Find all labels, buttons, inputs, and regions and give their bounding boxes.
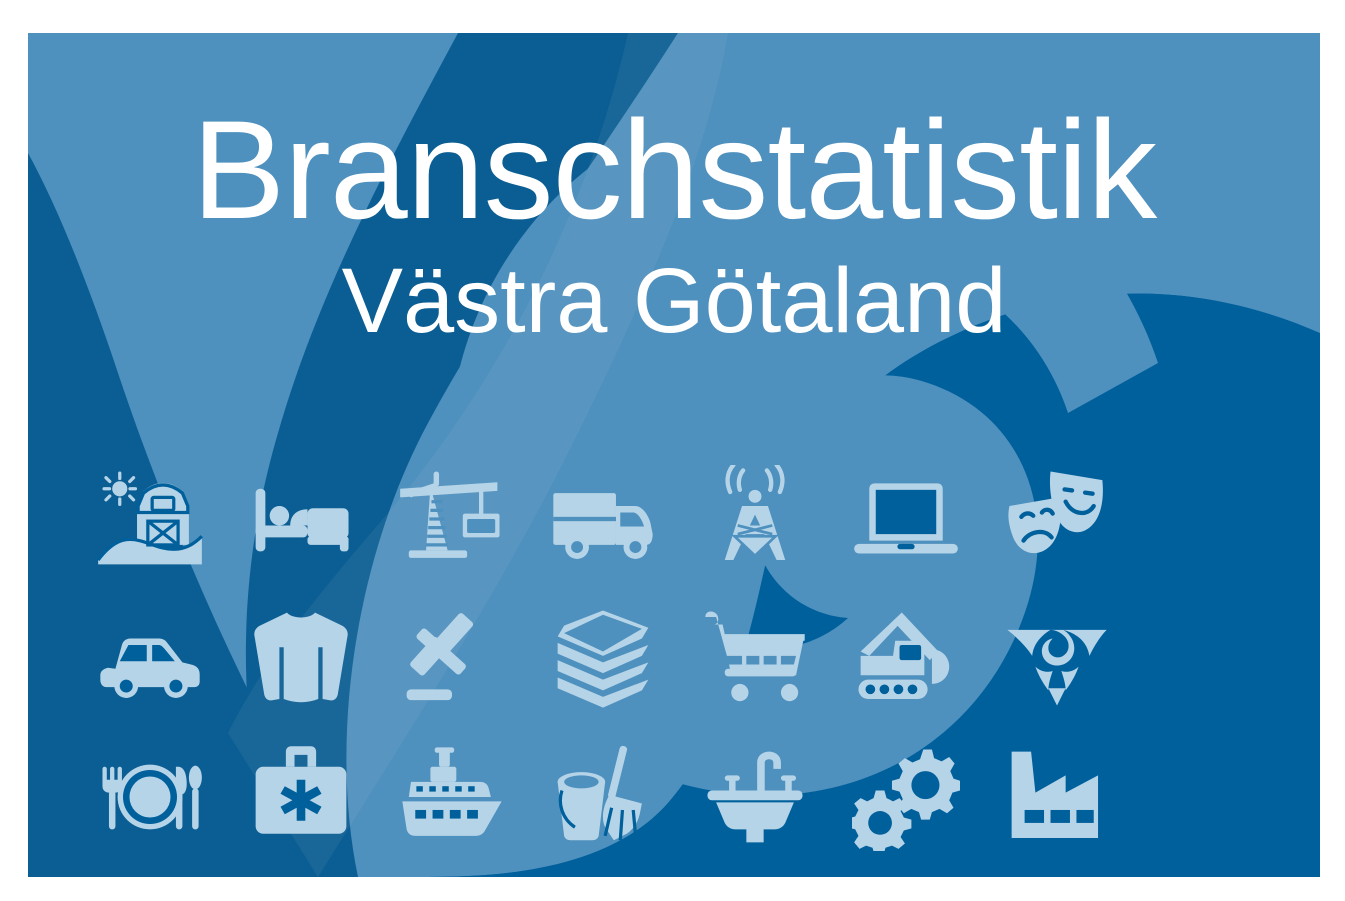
icon-cell-medical-bag [225,731,376,862]
theatre-masks-icon [1003,465,1111,573]
gavel-icon [398,604,506,712]
excavator-icon [852,604,960,712]
icon-cell-sweater [225,592,376,723]
industry-icon-grid [74,453,1284,862]
sweater-icon [247,604,355,712]
bucket-mop-icon [549,743,657,851]
laptop-icon [852,465,960,573]
icon-cell-shopping-cart [679,592,830,723]
swirl-logo-icon [1003,604,1111,712]
delivery-truck-icon [549,465,657,573]
title-block: Branschstatistik Västra Götaland [28,33,1320,351]
farm-sun-barn-icon [96,465,204,573]
poster-canvas: Branschstatistik Västra Götaland [28,33,1320,877]
icon-cell-swirl-logo [982,592,1133,723]
icon-cell-excavator [830,592,981,723]
gears-icon [852,743,960,851]
books-stack-icon [549,604,657,712]
bed-icon [247,465,355,573]
plate-cutlery-icon [96,743,204,851]
icon-cell-restaurant [74,731,225,862]
icon-cell-bed [225,453,376,584]
icon-cell-factory [982,731,1133,862]
icon-cell-laptop [830,453,981,584]
icon-cell-cleaning [528,731,679,862]
shopping-cart-icon [701,604,809,712]
page-title: Branschstatistik [28,33,1320,245]
ship-icon [398,743,506,851]
icon-cell-books [528,592,679,723]
icon-cell-theatre-masks [982,453,1133,584]
page-subtitle: Västra Götaland [28,245,1320,351]
icon-cell-ship [377,731,528,862]
medical-bag-icon [247,743,355,851]
icon-cell-farm [74,453,225,584]
construction-crane-icon [398,465,506,573]
icon-cell-crane [377,453,528,584]
factory-icon [1003,743,1111,851]
icon-cell-empty-r2 [1133,592,1284,723]
sink-faucet-icon [701,743,809,851]
icon-cell-car [74,592,225,723]
icon-cell-gears [830,731,981,862]
radio-tower-icon [701,465,809,573]
car-icon [96,604,204,712]
icon-cell-gavel [377,592,528,723]
icon-cell-empty-r3 [1133,731,1284,862]
icon-cell-empty-r1 [1133,453,1284,584]
icon-cell-truck [528,453,679,584]
icon-cell-radio-tower [679,453,830,584]
icon-cell-sink [679,731,830,862]
